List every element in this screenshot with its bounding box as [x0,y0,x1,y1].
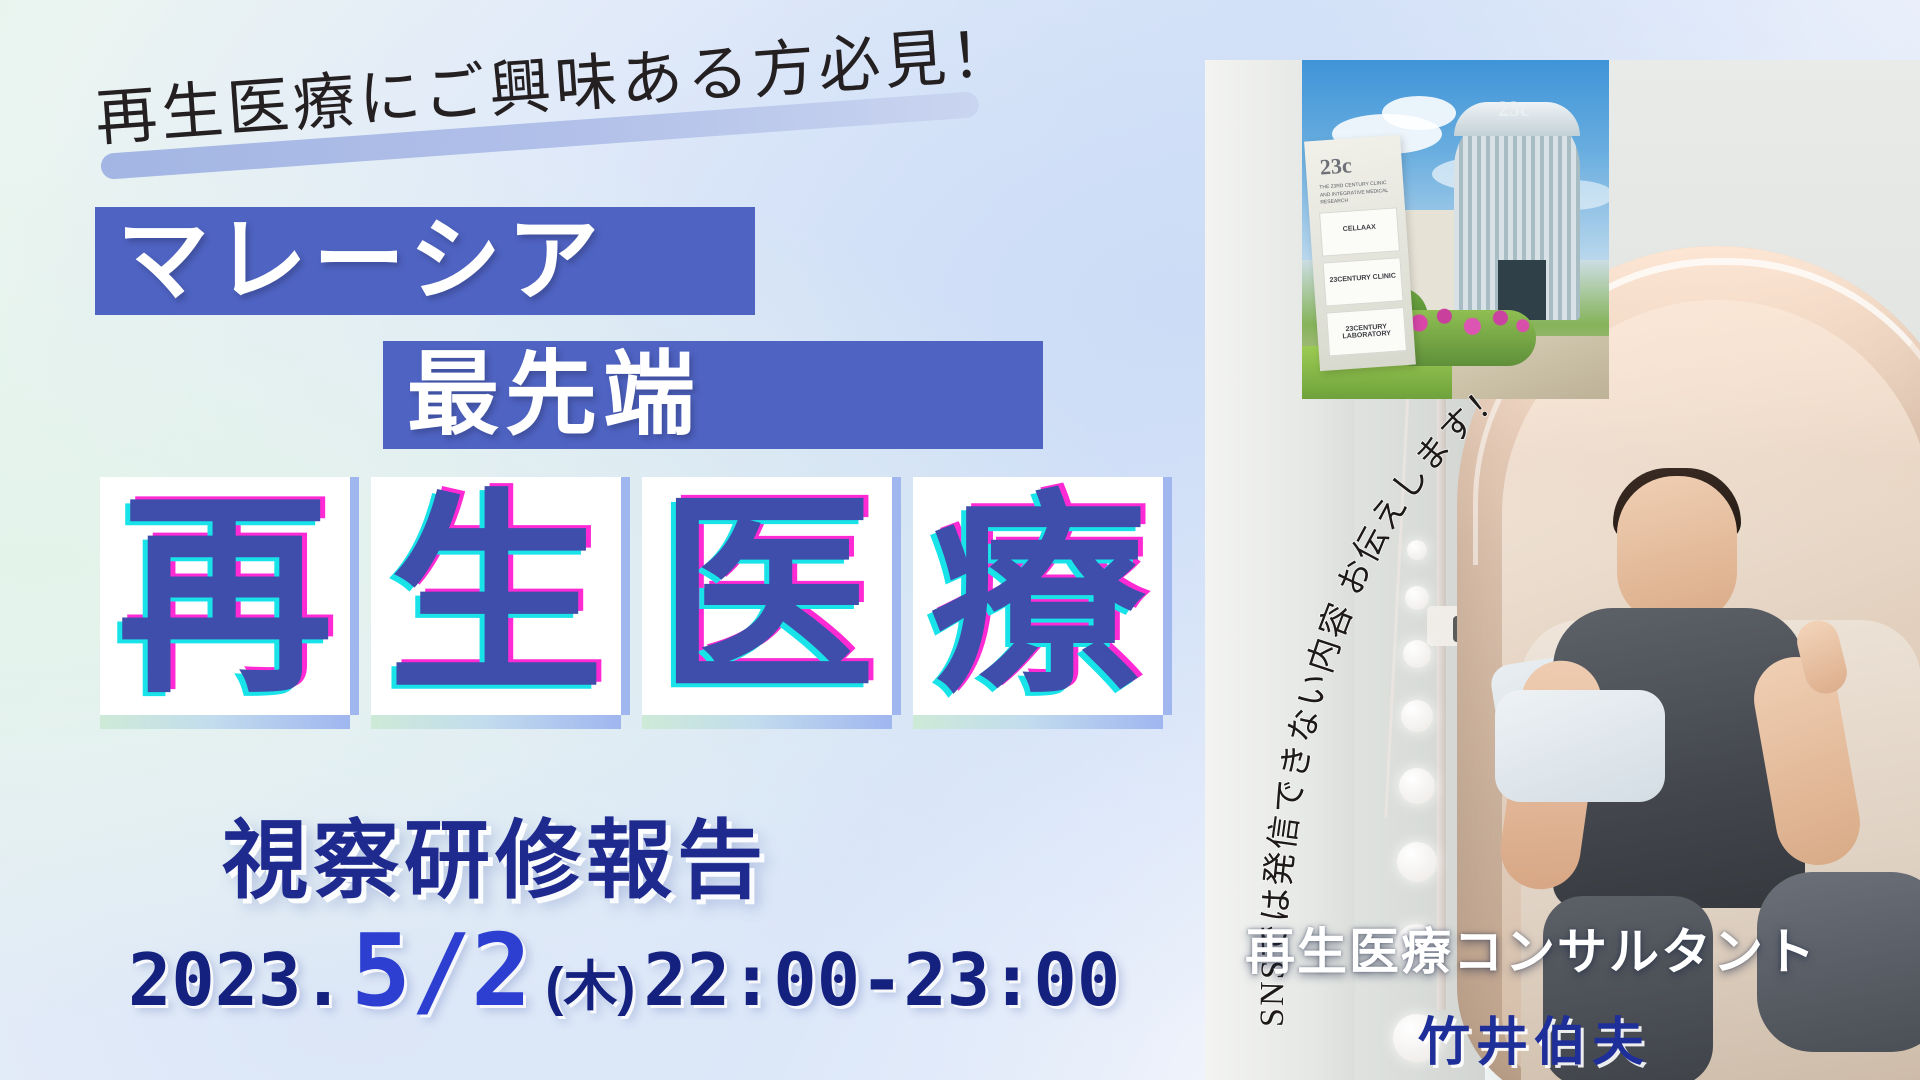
consultant-role: 再生医療コンサルタント [1245,912,1817,984]
date-day-of-week: (木) [545,957,635,1017]
band-cutting-edge: 最先端 [383,341,1043,449]
band-malaysia: マレーシア [95,207,755,315]
headline-tile: 療 [913,477,1163,715]
inset-sign-card-label: 23CENTURY LABORATORY [1328,322,1405,341]
band-malaysia-label: マレーシア [117,215,605,307]
tagline-group: 再生医療にご興味ある方必見！ [95,68,1105,178]
seminar-banner: 再生医療にご興味ある方必見！ マレーシア 最先端 再 生 医 療 [0,0,1920,1080]
headline-tile-edge [642,715,892,729]
inset-sign-card-label: CELLAAX [1321,222,1397,234]
headline-tile-edge [371,715,621,729]
inset-sign-card: 23CENTURY CLINIC [1323,257,1404,306]
person-head [1617,476,1737,624]
headline-tile: 医 [642,477,892,715]
band-cutting-edge-label: 最先端 [407,349,701,441]
vanity-light-dots [1401,540,1461,1080]
date-year: 2023. [128,938,345,1022]
inset-tower-mark: 23c [1498,96,1530,122]
headline-tile-glyph: 再 [100,477,350,715]
inset-sign-subtitle: THE 23RD CENTURY CLINIC AND INTEGRATIVE … [1319,180,1392,207]
inset-sign-card-label: 23CENTURY CLINIC [1325,272,1401,284]
headline-tile-glyph: 療 [913,477,1163,715]
event-date-line: 2023.5/2(木)22:00-23:00 [128,912,1120,1029]
clinic-inset-photo: 23c 23c THE 23RD CENTURY CLINIC AND INTE… [1302,60,1609,399]
report-heading: 視察研修報告 [222,790,768,915]
headline-tile-glyph: 生 [371,477,621,715]
inset-flowers [1394,306,1534,340]
inset-sign-card: CELLAAX [1319,207,1400,256]
consultant-name: 竹井伯夫 [1418,1000,1650,1075]
arm-pillow [1495,690,1665,802]
left-content-column: 再生医療にご興味ある方必見！ マレーシア 最先端 再 生 医 療 [0,0,1205,1080]
inset-sign-logo: 23c [1319,152,1353,180]
date-month-day: 5/2 [351,912,532,1029]
headline-tile-group: 再 生 医 療 [100,477,1180,732]
headline-tile-glyph: 医 [642,477,892,715]
headline-tile-edge [100,715,350,729]
inset-clinic-signboard: 23c THE 23RD CENTURY CLINIC AND INTEGRAT… [1304,135,1416,371]
headline-tile-edge [913,715,1163,729]
date-time-range: 22:00-23:00 [643,938,1120,1022]
headline-tile: 再 [100,477,350,715]
headline-tile: 生 [371,477,621,715]
inset-cloud [1382,96,1456,130]
inset-sign-card: 23CENTURY LABORATORY [1326,307,1407,356]
